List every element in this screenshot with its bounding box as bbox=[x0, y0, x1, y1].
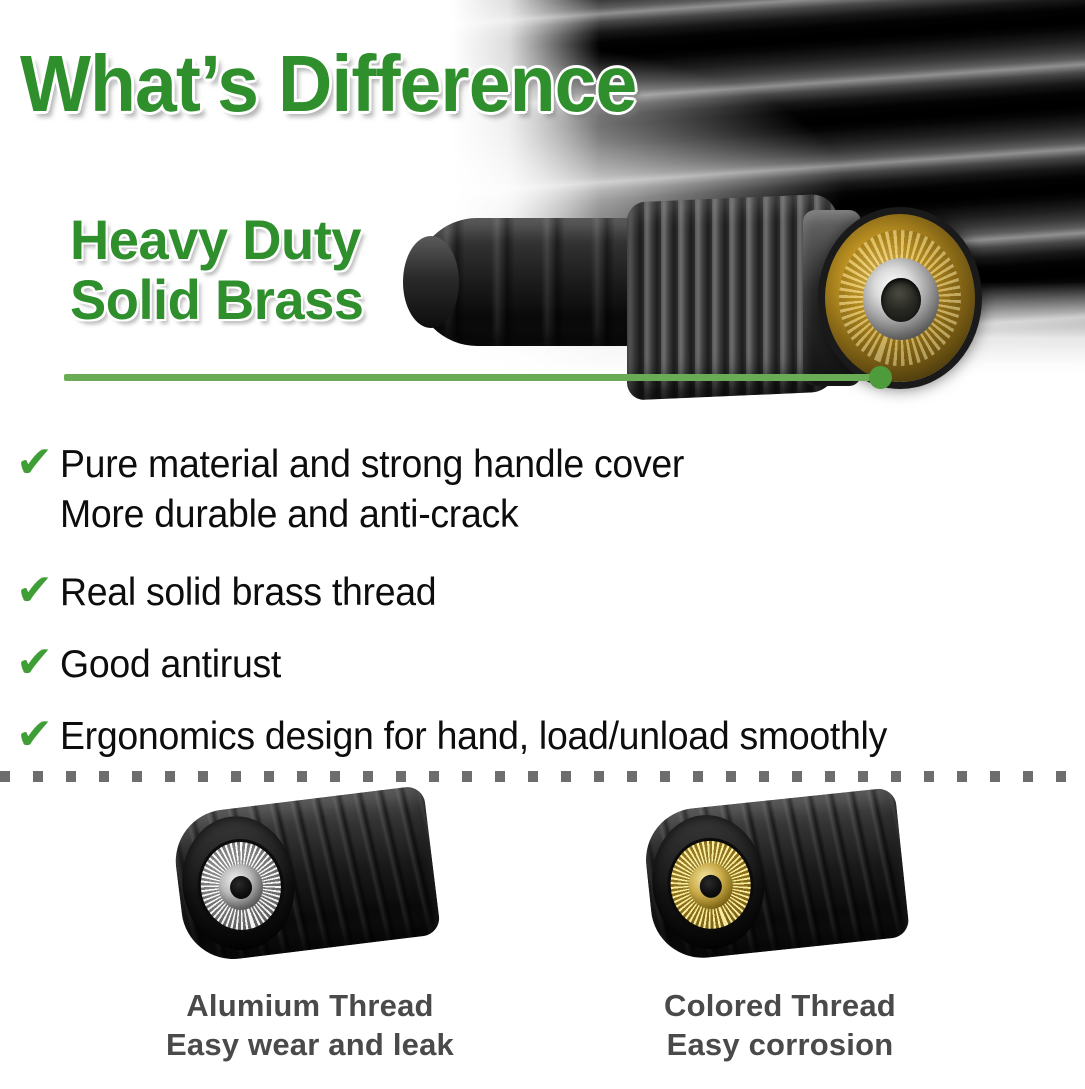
page-subtitle: Heavy Duty Solid Brass bbox=[70, 210, 364, 330]
comparison-subtitle: Easy wear and leak bbox=[70, 1025, 550, 1064]
product-infographic: What’s Difference Heavy Duty Solid Brass… bbox=[0, 0, 1085, 1089]
callout-pointer-line bbox=[64, 374, 884, 381]
coupler-end-face bbox=[646, 810, 771, 955]
dashed-divider bbox=[0, 771, 1085, 782]
check-icon: ✔ bbox=[16, 568, 60, 614]
feature-line-1: Good antirust bbox=[60, 643, 281, 686]
check-icon: ✔ bbox=[16, 640, 60, 686]
comparison-subtitle: Easy corrosion bbox=[540, 1025, 1020, 1064]
coupler-barrel-image bbox=[641, 787, 910, 963]
comparison-label: Alumium Thread Easy wear and leak bbox=[70, 986, 550, 1064]
aluminum-thread-ring bbox=[196, 837, 286, 934]
list-item: ✔ Pure material and strong handle cover … bbox=[16, 440, 1085, 540]
brass-thread-ring bbox=[825, 214, 975, 382]
comparison-title: Alumium Thread bbox=[186, 988, 433, 1023]
list-item: ✔ Good antirust bbox=[16, 640, 1085, 690]
feature-line-1: Ergonomics design for hand, load/unload … bbox=[60, 715, 887, 758]
feature-line-1: Real solid brass thread bbox=[60, 571, 436, 614]
comparison-title: Colored Thread bbox=[664, 988, 896, 1023]
feature-text: Real solid brass thread bbox=[60, 568, 436, 618]
feature-line-1: Pure material and strong handle cover bbox=[60, 443, 684, 486]
callout-pointer-dot bbox=[869, 366, 892, 389]
coupler-grip-tip bbox=[403, 236, 459, 328]
feature-text: Good antirust bbox=[60, 640, 281, 690]
coupler-bore bbox=[229, 875, 254, 901]
coupler-end-face bbox=[175, 810, 302, 957]
feature-line-2: More durable and anti-crack bbox=[60, 490, 684, 540]
coupler-bore bbox=[699, 874, 723, 899]
list-item: ✔ Ergonomics design for hand, load/unloa… bbox=[16, 712, 1085, 762]
check-icon: ✔ bbox=[16, 712, 60, 758]
comparison-item-colored: Colored Thread Easy corrosion bbox=[540, 790, 1020, 1089]
subtitle-line-2: Solid Brass bbox=[70, 270, 364, 330]
hose-coupler-image bbox=[415, 196, 1015, 401]
colored-thread-inner bbox=[686, 861, 735, 911]
steel-seat-ring bbox=[863, 258, 939, 340]
coupler-bore bbox=[881, 278, 921, 322]
subtitle-line-1: Heavy Duty bbox=[70, 210, 364, 270]
feature-text: Ergonomics design for hand, load/unload … bbox=[60, 712, 887, 762]
list-item: ✔ Real solid brass thread bbox=[16, 568, 1085, 618]
page-title: What’s Difference bbox=[20, 44, 636, 124]
feature-list: ✔ Pure material and strong handle cover … bbox=[0, 432, 1085, 762]
comparison-section: Alumium Thread Easy wear and leak Colore… bbox=[0, 790, 1085, 1089]
coupler-barrel-image bbox=[170, 785, 441, 965]
colored-thread-ring bbox=[666, 837, 755, 933]
check-icon: ✔ bbox=[16, 440, 60, 486]
comparison-item-aluminum: Alumium Thread Easy wear and leak bbox=[70, 790, 550, 1089]
comparison-label: Colored Thread Easy corrosion bbox=[540, 986, 1020, 1064]
aluminum-thread-inner bbox=[216, 861, 265, 912]
feature-text: Pure material and strong handle cover Mo… bbox=[60, 440, 684, 540]
